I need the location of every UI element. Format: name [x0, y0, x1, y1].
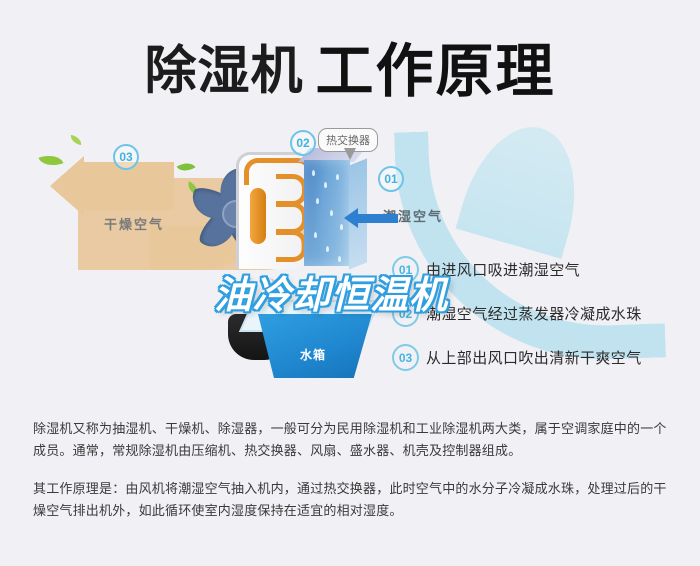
callout-pointer-icon: [344, 148, 356, 160]
infographic-page: 除湿机工作原理 干燥空气 潮湿空气: [0, 0, 700, 566]
step-item: 03 从上部出风口吹出清新干爽空气: [392, 344, 692, 371]
leaf-icon: [69, 135, 82, 145]
diagram-badge-01: 01: [378, 166, 404, 192]
step-text-03: 从上部出风口吹出清新干爽空气: [426, 347, 642, 368]
page-title: 除湿机工作原理: [0, 24, 700, 108]
step-text-01: 由进风口吸进潮湿空气: [426, 259, 580, 280]
step-text-02: 潮湿空气经过蒸发器冷凝成水珠: [426, 303, 642, 324]
receiver-cylinder-icon: [250, 188, 266, 244]
coil-bend-icon: [276, 230, 307, 262]
dry-air-label: 干燥空气: [104, 214, 164, 233]
body-paragraph-2: 其工作原理是：由风机将潮湿空气抽入机内，通过热交换器，此时空气中的水分子冷凝成水…: [33, 478, 673, 522]
water-tank-label: 水箱: [300, 346, 326, 363]
air-inlet-arrow-icon: [358, 214, 398, 223]
diagram-badge-03: 03: [113, 144, 139, 170]
body-copy: 除湿机又称为抽湿机、干燥机、除湿器，一般可分为民用除湿机和工业除湿机两大类，属于…: [33, 418, 673, 538]
page-title-part1: 除湿机: [144, 43, 303, 101]
diagram-badge-02: 02: [290, 130, 316, 156]
watermark-text: 油冷却恒温机: [214, 264, 448, 319]
step-number-03: 03: [392, 344, 419, 371]
body-paragraph-1: 除湿机又称为抽湿机、干燥机、除湿器，一般可分为民用除湿机和工业除湿机两大类，属于…: [33, 418, 673, 462]
page-title-part2: 工作原理: [316, 39, 556, 104]
